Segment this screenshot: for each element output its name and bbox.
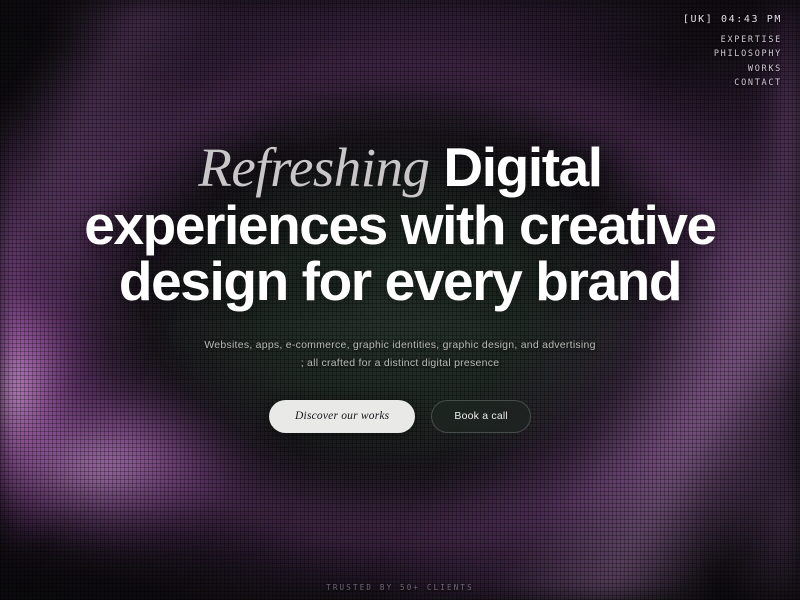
hero-section: Refreshing Digital experiences with crea… — [0, 0, 800, 600]
nav-item-contact[interactable]: CONTACT — [734, 78, 782, 89]
book-a-call-button[interactable]: Book a call — [431, 400, 531, 433]
nav-item-works[interactable]: WORKS — [748, 64, 782, 75]
headline-accent-word: Refreshing — [198, 137, 429, 198]
trusted-by-label: TRUSTED BY 50+ CLIENTS — [0, 583, 800, 592]
subtitle-line-1: Websites, apps, e-commerce, graphic iden… — [204, 336, 595, 354]
nav-item-expertise[interactable]: EXPERTISE — [721, 35, 782, 46]
hero-footer: TRUSTED BY 50+ CLIENTS — [0, 583, 800, 592]
hero-page: [UK] 04:43 PM EXPERTISE PHILOSOPHY WORKS… — [0, 0, 800, 600]
nav-item-philosophy[interactable]: PHILOSOPHY — [714, 49, 782, 60]
cta-button-row: Discover our works Book a call — [269, 400, 531, 433]
main-navigation: EXPERTISE PHILOSOPHY WORKS CONTACT — [714, 35, 782, 90]
hero-subtitle: Websites, apps, e-commerce, graphic iden… — [204, 336, 595, 373]
site-header: [UK] 04:43 PM EXPERTISE PHILOSOPHY WORKS… — [0, 0, 800, 90]
location-clock: [UK] 04:43 PM — [683, 14, 782, 25]
page-title: Refreshing Digital experiences with crea… — [70, 139, 730, 310]
discover-works-button[interactable]: Discover our works — [269, 400, 415, 433]
subtitle-line-2: ; all crafted for a distinct digital pre… — [204, 354, 595, 372]
